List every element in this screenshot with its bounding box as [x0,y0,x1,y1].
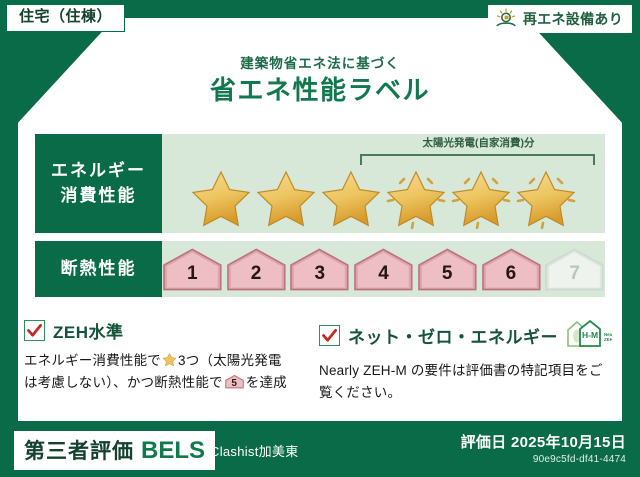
net-zero-energy-heading: ネット・ゼロ・エネルギー H-M Nearly ZEH-M [319,318,612,353]
evaluation-info: 評価日 2025年10月15日 90e9c5fd-df41-4474 [461,431,626,465]
svg-text:H-M: H-M [582,330,598,340]
net-zero-energy-body: Nearly ZEH-M の要件は評価書の特記項目をご覧ください。 [319,360,612,404]
insulation-grade-2: 2 [226,247,287,291]
bels-jp-label: 第三者評価 [24,435,134,465]
statements-section: ZEH水準 エネルギー消費性能で3つ（太陽光発電 は考慮しない）、かつ断熱性能で… [24,318,622,404]
evaluation-id: 90e9c5fd-df41-4474 [461,454,626,465]
star-icon [319,167,383,229]
star-solar-icon [514,167,578,229]
inline-house-grade-value: 5 [225,379,244,389]
bels-certification-mark: 第三者評価 BELS [14,431,215,470]
zeh-standard-title: ZEH水準 [53,318,124,343]
builder-name: Clashist加美東 [210,441,299,460]
insulation-grade-3: 3 [289,247,350,291]
insulation-grade-7: 7 [544,247,605,291]
solar-bracket [360,154,595,165]
checkbox-checked-icon [319,325,340,346]
energy-label-line1: エネルギー [51,159,146,184]
insulation-grade-scale: 1 2 3 4 [162,247,605,291]
zeh-body-part1: エネルギー消費性能で [24,353,161,368]
insulation-performance-panel: 1 2 3 4 [162,241,605,297]
insulation-grade-4-value: 4 [353,263,414,285]
insulation-grade-1: 1 [162,247,223,291]
insulation-performance-row: 断熱性能 1 2 3 [35,241,605,297]
renewable-energy-badge-label: 再エネ設備あり [523,9,623,29]
insulation-performance-label: 断熱性能 [35,241,162,297]
svg-text:ZEH-M: ZEH-M [604,337,612,342]
insulation-grade-6-value: 6 [481,263,542,285]
energy-consumption-row: エネルギー 消費性能 太陽光発電(自家消費)分 [35,134,605,233]
zeh-standard-body: エネルギー消費性能で3つ（太陽光発電 は考慮しない）、かつ断熱性能で5を達成 [24,350,299,394]
insulation-grade-2-value: 2 [226,263,287,285]
solar-bracket-caption: 太陽光発電(自家消費)分 [352,135,605,150]
star-solar-icon [449,167,513,229]
label-footer: 第三者評価 BELS Clashist加美東 評価日 2025年10月15日 9… [0,421,640,477]
insulation-grade-4: 4 [353,247,414,291]
performance-rows: エネルギー 消費性能 太陽光発電(自家消費)分 [35,134,605,305]
zeh-standard-statement: ZEH水準 エネルギー消費性能で3つ（太陽光発電 は考慮しない）、かつ断熱性能で… [24,318,309,404]
bels-en-label: BELS [141,437,205,465]
house-type-tag: 住宅（住棟） [6,4,125,32]
net-zero-energy-title: ネット・ゼロ・エネルギー [348,323,558,348]
energy-consumption-panel: 太陽光発電(自家消費)分 [162,134,605,233]
insulation-grade-5-value: 5 [417,263,478,285]
zeh-body-part4: を達成 [246,375,287,390]
title-subtitle: 建築物省エネ法に基づく [0,56,640,72]
insulation-grade-7-value: 7 [544,263,605,285]
star-icon [254,167,318,229]
insulation-grade-1-value: 1 [162,263,223,285]
zeh-standard-heading: ZEH水準 [24,318,299,343]
inline-house-grade-icon: 5 [225,374,244,389]
label-title: 建築物省エネ法に基づく 省エネ性能ラベル [0,56,640,106]
checkbox-checked-icon [24,320,45,341]
insulation-grade-3-value: 3 [289,263,350,285]
energy-label-line2: 消費性能 [61,184,137,209]
renewable-energy-badge: 再エネ設備あり [488,5,632,33]
energy-performance-label: 住宅（住棟） 再エネ設備あり 建築物省エネ法に基づく 省エネ性能ラベル [0,0,640,477]
inline-star-icon [162,352,177,367]
star-solar-icon [384,167,448,229]
energy-star-rating [162,167,605,229]
star-icon [189,167,253,229]
net-zero-energy-statement: ネット・ゼロ・エネルギー H-M Nearly ZEH-M Nearly ZEH… [309,318,622,404]
sun-solar-icon [494,8,518,30]
zeh-body-part2: 3つ（太陽光発電 [178,353,282,368]
zeh-body-part3: は考慮しない）、かつ断熱性能で [24,375,223,390]
nearly-zeh-m-logo-icon: H-M Nearly ZEH-M [566,318,612,353]
insulation-grade-6: 6 [481,247,542,291]
energy-consumption-label: エネルギー 消費性能 [35,134,162,233]
page-title: 省エネ性能ラベル [0,76,640,106]
evaluation-date: 評価日 2025年10月15日 [461,431,626,452]
insulation-grade-5: 5 [417,247,478,291]
